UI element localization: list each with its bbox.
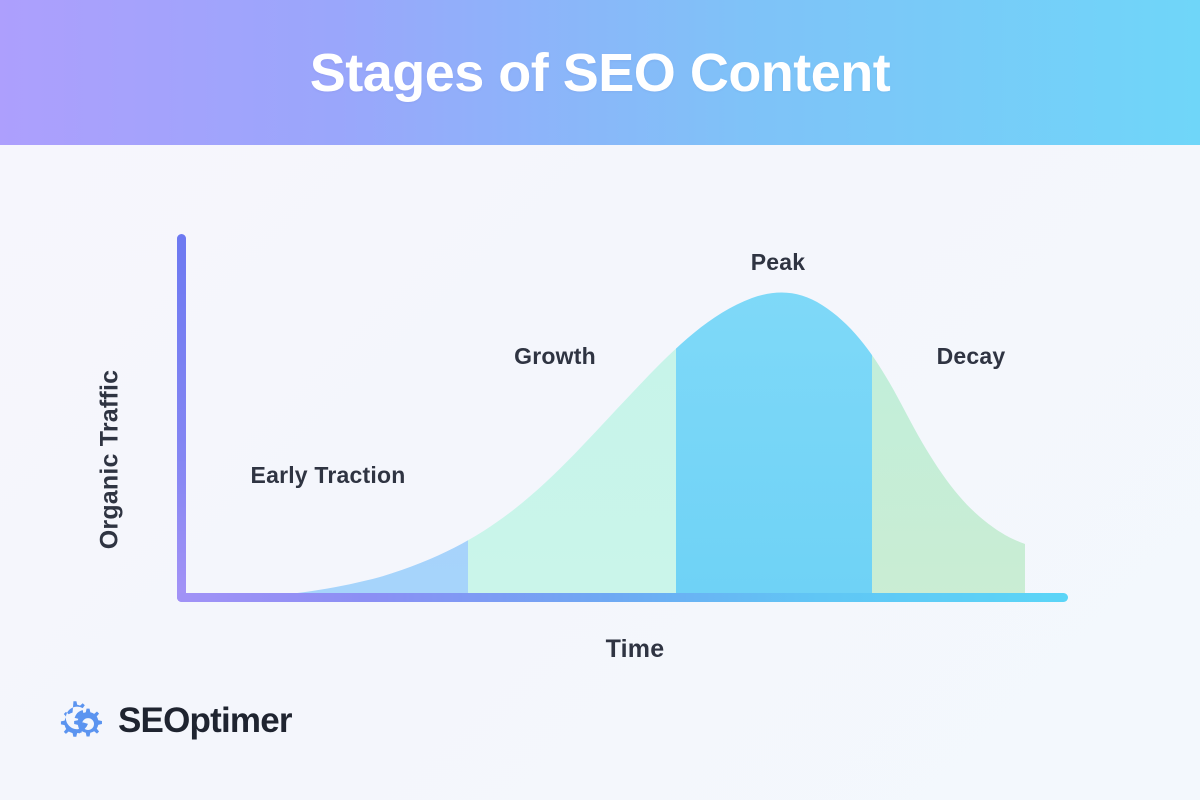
header-banner: Stages of SEO Content — [0, 0, 1200, 145]
infographic-page: Stages of SEO Content — [0, 0, 1200, 800]
x-axis-line — [177, 593, 1068, 602]
stage-label-growth: Growth — [514, 343, 596, 370]
y-axis-line — [177, 234, 186, 602]
logo-wordmark: SEOptimer — [118, 703, 292, 738]
gear-icon — [52, 692, 108, 748]
band-early-traction — [181, 285, 468, 605]
stage-label-decay: Decay — [937, 343, 1006, 370]
seoptimer-logo: SEOptimer — [52, 692, 292, 748]
x-axis-label: Time — [535, 635, 735, 664]
band-growth — [468, 285, 676, 605]
page-title: Stages of SEO Content — [310, 46, 891, 100]
band-peak — [676, 285, 872, 605]
band-decay — [872, 285, 1025, 605]
stage-label-peak: Peak — [751, 249, 806, 276]
curve-bands — [181, 285, 1025, 605]
y-axis-label: Organic Traffic — [96, 350, 125, 570]
stage-label-early-traction: Early Traction — [251, 462, 406, 489]
